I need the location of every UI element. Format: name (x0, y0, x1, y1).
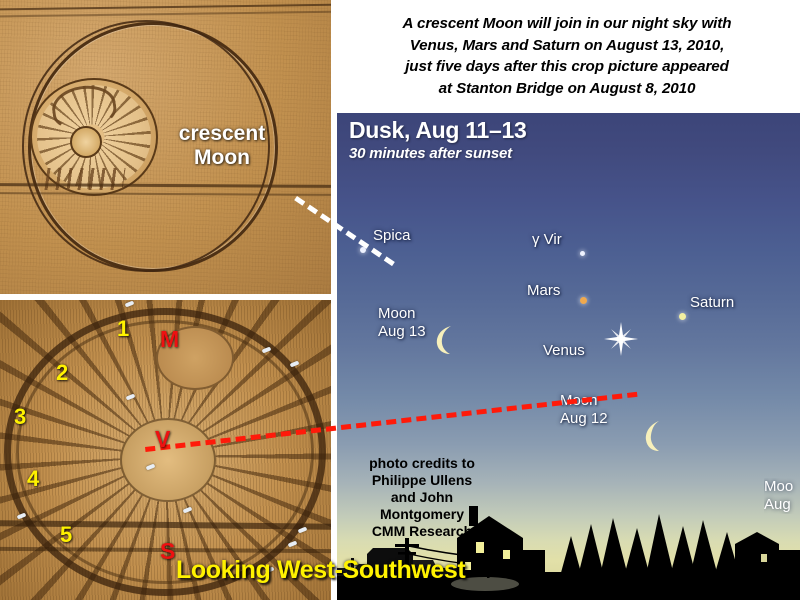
header-caption-line-1: A crescent Moon will join in our night s… (403, 13, 732, 35)
crop-marker-M: M (160, 328, 179, 351)
poster-root: A crescent Moon will join in our night s… (0, 0, 800, 600)
sky-label-spica: Spica (373, 228, 411, 245)
sky-label-moon-aug-13: MoonAug 13 (378, 305, 426, 341)
sky-dot-gamma-vir (580, 251, 585, 256)
credits-line-2: Philippe Ullens (342, 472, 502, 489)
sky-dot-mars (580, 297, 587, 304)
crop-marker-1: 1 (117, 318, 129, 340)
header-caption-line-4: at Stanton Bridge on August 8, 2010 (439, 78, 696, 100)
crop-marker-2: 2 (56, 362, 68, 384)
looking-direction-banner: Looking West-Southwest (176, 556, 465, 585)
credits-line-1: photo credits to (342, 455, 502, 472)
edge-moon-label: Moo Aug (764, 478, 798, 514)
medallion-glyph-row (44, 168, 125, 190)
photo-credits: photo credits to Philippe Ullens and Joh… (342, 455, 502, 540)
sky-label-saturn: Saturn (690, 295, 734, 312)
sky-label-line-2: Aug 12 (560, 410, 608, 428)
header-caption-line-2: Venus, Mars and Saturn on August 13, 201… (410, 35, 725, 57)
crop-marker-V: V (155, 428, 170, 451)
crop-marker-5: 5 (60, 524, 72, 546)
crop-circle-photo-crescent: crescent Moon (0, 0, 331, 294)
crescent-moon-label-line-2: Moon (168, 146, 276, 170)
crop-marker-3: 3 (14, 406, 26, 428)
header-caption-line-3: just five days after this crop picture a… (405, 56, 729, 78)
credits-line-5: CMM Research (342, 523, 502, 540)
sky-label-mars: Mars (527, 283, 560, 300)
credits-line-4: Montgomery (342, 506, 502, 523)
edge-moon-label-line-1: Moo (764, 478, 798, 496)
sky-dot-saturn (679, 313, 686, 320)
sky-label-line-2: Aug 13 (378, 323, 426, 341)
sky-chart-heading: Dusk, Aug 11–13 30 minutes after sunset (349, 117, 526, 162)
moon-crescent-aug12-icon (642, 420, 666, 452)
credits-line-3: and John (342, 489, 502, 506)
sky-label-line-1: Moon (378, 305, 426, 323)
venus-starburst-icon (604, 322, 638, 356)
moon-crescent-aug13-icon (433, 325, 457, 355)
sky-label-venus: Venus (543, 343, 585, 360)
crescent-moon-label-line-1: crescent (168, 122, 276, 146)
crop-marker-4: 4 (27, 468, 39, 490)
header-caption: A crescent Moon will join in our night s… (336, 4, 798, 108)
sky-chart-title: Dusk, Aug 11–13 (349, 117, 526, 144)
edge-moon-label-line-2: Aug (764, 496, 798, 514)
crescent-moon-photo-label: crescent Moon (168, 122, 276, 169)
sky-label-gamma-vir: γ Vir (532, 232, 562, 249)
crop-marker-S: S (160, 540, 175, 563)
sky-chart-subtitle: 30 minutes after sunset (349, 145, 526, 162)
